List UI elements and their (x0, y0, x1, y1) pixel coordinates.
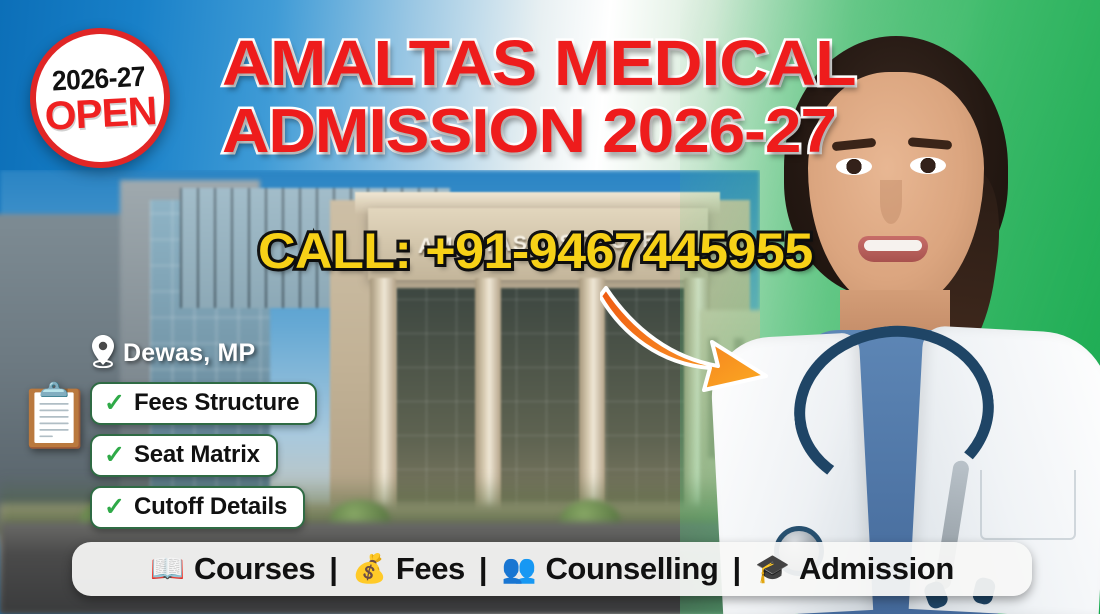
bottom-info-bar: 📖 Courses | 💰 Fees | 👥 Counselling | 🎓 A… (72, 542, 1032, 596)
eye-left (836, 158, 872, 175)
orange-arrow-icon (600, 284, 780, 394)
headline-line-1: AMALTAS MEDICAL (222, 34, 879, 93)
bottom-bar-item-fees[interactable]: 💰 Fees (352, 551, 465, 587)
location-label: Dewas, MP (90, 334, 255, 373)
separator: | (329, 551, 338, 587)
feature-label: Cutoff Details (134, 493, 287, 521)
teeth (864, 240, 922, 251)
separator: | (732, 551, 741, 587)
money-bag-icon: 💰 (352, 555, 387, 583)
nose (880, 180, 902, 224)
bottom-bar-label: Counselling (545, 551, 718, 587)
graduation-cap-icon: 🎓 (755, 555, 790, 583)
bottom-bar-label: Admission (799, 551, 954, 587)
location-text: Dewas, MP (123, 339, 255, 368)
feature-pill[interactable]: ✓ Seat Matrix (90, 434, 278, 477)
stethoscope-tube (786, 316, 1002, 504)
open-book-icon: 📖 (150, 555, 185, 583)
badge-status: OPEN (44, 92, 157, 136)
check-icon: ✓ (104, 443, 125, 468)
bottom-bar-item-courses[interactable]: 📖 Courses (150, 551, 315, 587)
bottom-bar-item-counselling[interactable]: 👥 Counselling (502, 551, 719, 587)
clipboard-icon: 📋 (16, 386, 93, 448)
call-phone-number[interactable]: CALL: +91-9467445955 (258, 222, 813, 280)
feature-pill[interactable]: ✓ Fees Structure (90, 382, 317, 425)
headline-line-2: ADMISSION 2026-27 (222, 103, 879, 160)
location-pin-icon (90, 334, 116, 373)
headline: AMALTAS MEDICAL ADMISSION 2026-27 (222, 34, 842, 160)
feature-label: Seat Matrix (134, 441, 260, 469)
feature-label: Fees Structure (134, 389, 299, 417)
people-speech-icon: 👥 (502, 555, 537, 583)
check-icon: ✓ (104, 495, 125, 520)
check-icon: ✓ (104, 391, 125, 416)
mouth (858, 236, 928, 262)
separator: | (479, 551, 488, 587)
eye-right (910, 157, 946, 174)
bottom-bar-item-admission[interactable]: 🎓 Admission (755, 551, 954, 587)
promotional-banner: AMALTAS INSTITUTE (0, 0, 1100, 614)
bottom-bar-label: Courses (194, 551, 315, 587)
bottom-bar-label: Fees (396, 551, 465, 587)
feature-pill-list: ✓ Fees Structure ✓ Seat Matrix ✓ Cutoff … (90, 382, 317, 538)
feature-pill[interactable]: ✓ Cutoff Details (90, 486, 305, 529)
